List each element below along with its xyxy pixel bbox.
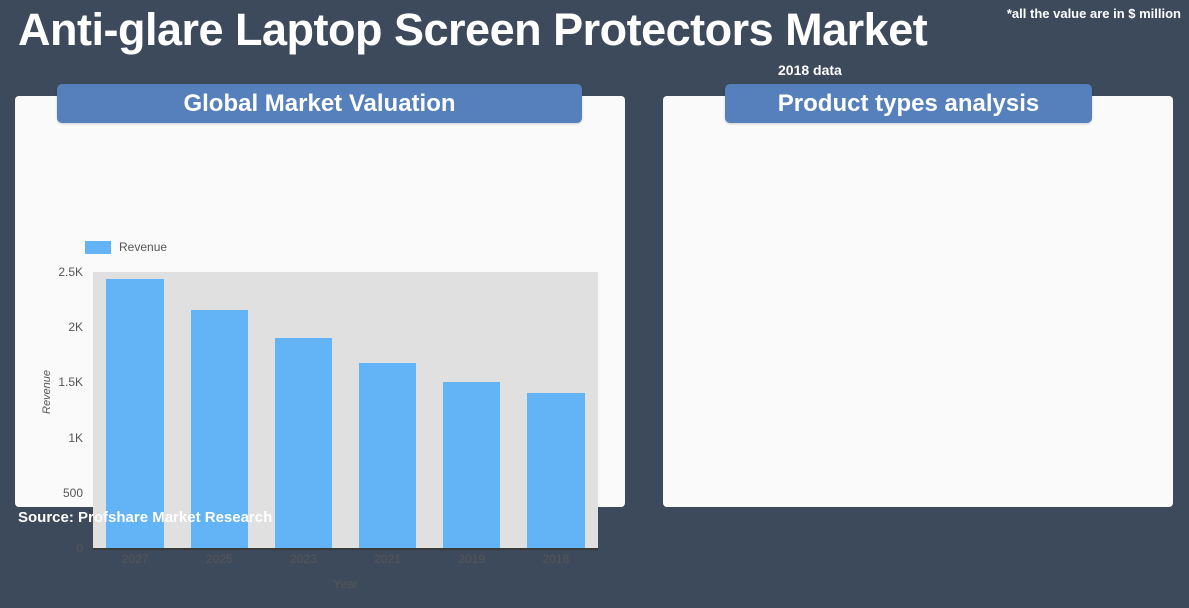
bar-2027[interactable] xyxy=(106,279,163,548)
bar-chart-legend: Revenue xyxy=(85,240,167,254)
source-text: Source: Profshare Market Research xyxy=(18,509,272,526)
infographic-page: Anti-glare Laptop Screen Protectors Mark… xyxy=(0,0,1189,531)
y-tick-label: 1K xyxy=(15,431,83,445)
bar-slot xyxy=(346,272,430,548)
bar-slot xyxy=(430,272,514,548)
page-title: Anti-glare Laptop Screen Protectors Mark… xyxy=(18,2,927,58)
y-tick-label: 2.5K xyxy=(15,265,83,279)
x-tick-label-2023: 2023 xyxy=(290,552,317,566)
data-year-note: 2018 data xyxy=(778,62,842,78)
y-axis-label: Revenue xyxy=(41,370,53,414)
bar-2023[interactable] xyxy=(275,338,332,548)
legend-swatch-revenue xyxy=(85,241,111,254)
x-tick-label-2021: 2021 xyxy=(374,552,401,566)
y-tick-label: 0 xyxy=(15,541,83,555)
bar-2021[interactable] xyxy=(359,363,416,548)
x-tick-label-2027: 2027 xyxy=(122,552,149,566)
x-axis-label: Year xyxy=(93,577,598,591)
bar-slot xyxy=(93,272,177,548)
product-types-analysis-card: Matte Film Smooth Film xyxy=(663,96,1173,507)
left-chart-banner-title: Global Market Valuation xyxy=(57,84,582,123)
y-tick-label: 2K xyxy=(15,320,83,334)
legend-label-revenue: Revenue xyxy=(119,240,167,254)
x-tick-label-2025: 2025 xyxy=(206,552,233,566)
bar-slot xyxy=(261,272,345,548)
right-chart-banner-title: Product types analysis xyxy=(725,84,1092,123)
y-tick-label: 500 xyxy=(15,486,83,500)
bar-series-revenue xyxy=(93,272,598,548)
global-market-valuation-card: Revenue 05001K1.5K2K2.5K Revenue 2027202… xyxy=(15,96,625,507)
bar-chart-plot-area xyxy=(93,272,598,548)
bar-slot xyxy=(177,272,261,548)
bar-slot xyxy=(514,272,598,548)
unit-note: *all the value are in $ million xyxy=(1007,6,1181,21)
x-tick-label-2018: 2018 xyxy=(543,552,570,566)
x-axis-line xyxy=(93,548,598,550)
bar-2019[interactable] xyxy=(443,382,500,548)
bar-2018[interactable] xyxy=(527,393,584,548)
x-tick-label-2019: 2019 xyxy=(458,552,485,566)
